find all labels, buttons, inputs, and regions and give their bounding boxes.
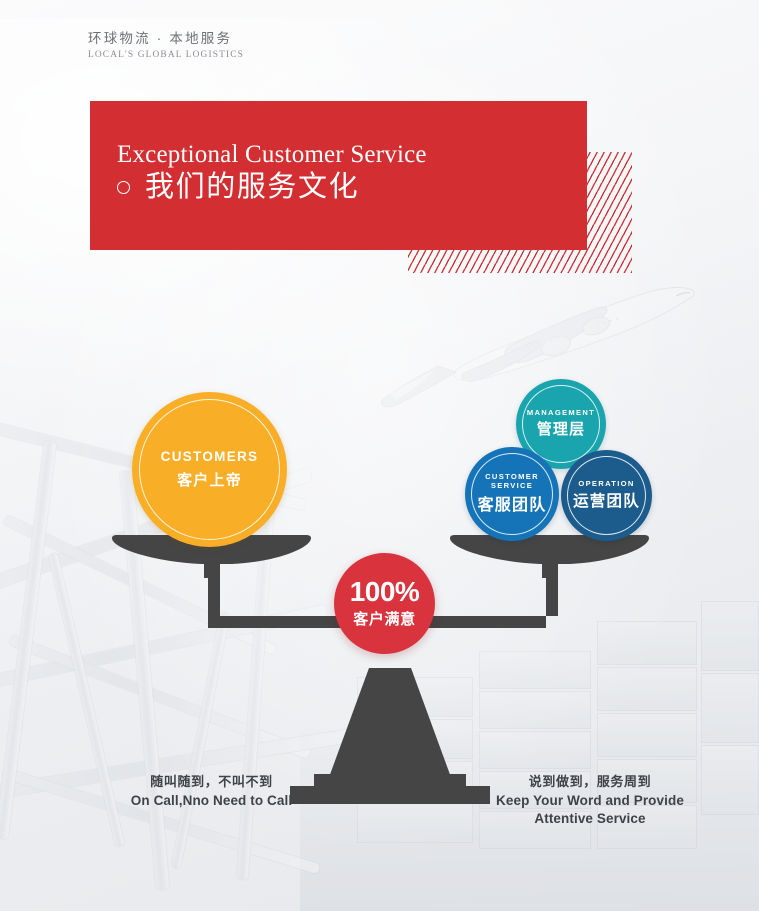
brand-logo: 环球物流 · 本地服务 LOCAL'S GLOBAL LOGISTICS: [88, 30, 328, 60]
bubble-operation-label-cn: 运营团队: [573, 489, 640, 511]
bubble-customers[interactable]: CUSTOMERS 客户上帝: [132, 392, 287, 547]
bubble-operation-label-en: OPERATION: [578, 480, 634, 489]
caption-right-en-line1: Keep Your Word and Provide: [470, 792, 710, 810]
bubble-customers-label-en: CUSTOMERS: [161, 449, 259, 464]
brand-name-en: LOCAL'S GLOBAL LOGISTICS: [88, 50, 328, 60]
bubble-customer-service-label-en-line2: SERVICE: [491, 482, 533, 491]
satisfaction-label-cn: 客户满意: [353, 608, 415, 629]
caption-right: 说到做到，服务周到 Keep Your Word and Provide Att…: [470, 773, 710, 828]
bubble-operation[interactable]: OPERATION 运营团队: [561, 450, 652, 541]
caption-left-en: On Call,Nno Need to Call: [104, 792, 319, 810]
headline-banner: Exceptional Customer Service 我们的服务文化: [90, 101, 587, 250]
bubble-management-label-cn: 管理层: [537, 418, 586, 439]
satisfaction-percent: 100%: [350, 578, 420, 606]
brand-name-cn: 环球物流 · 本地服务: [88, 30, 328, 48]
caption-right-en-line2: Attentive Service: [470, 810, 710, 828]
poster-canvas: 环球物流 · 本地服务 LOCAL'S GLOBAL LOGISTICS Exc…: [0, 0, 759, 911]
headline-english: Exceptional Customer Service: [117, 141, 569, 169]
caption-left-cn: 随叫随到，不叫不到: [104, 773, 319, 792]
bubble-customer-service[interactable]: CUSTOMER SERVICE 客服团队: [465, 447, 559, 541]
circle-outline-icon: [117, 181, 130, 194]
bubble-management-label-en: MANAGEMENT: [527, 409, 595, 418]
headline-chinese: 我们的服务文化: [145, 172, 359, 204]
bubble-satisfaction[interactable]: 100% 客户满意: [334, 553, 435, 654]
bubble-customers-label-cn: 客户上帝: [177, 469, 242, 490]
caption-left: 随叫随到，不叫不到 On Call,Nno Need to Call: [104, 773, 319, 810]
bubble-customer-service-label-cn: 客服团队: [478, 491, 547, 515]
caption-right-cn: 说到做到，服务周到: [470, 773, 710, 792]
